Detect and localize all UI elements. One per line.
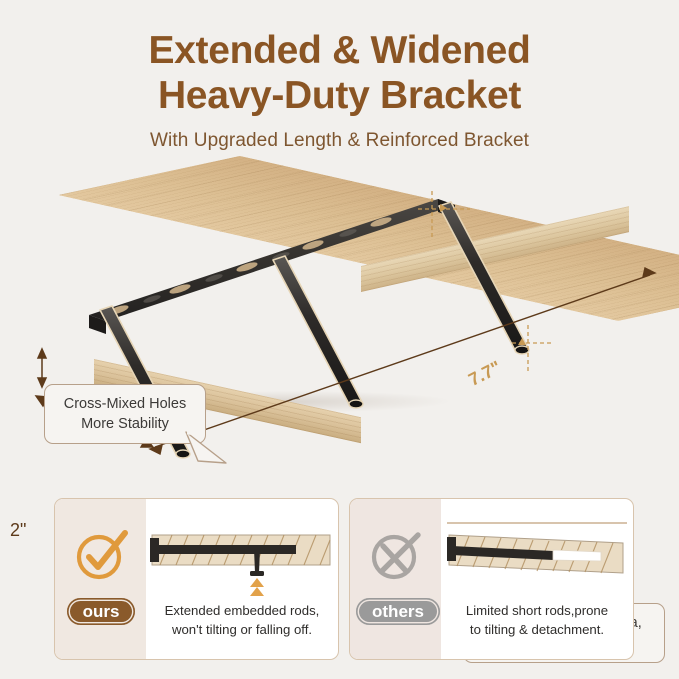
comparison-section: ours xyxy=(0,498,679,670)
check-circle-icon xyxy=(73,527,129,583)
callout-cross-mixed-holes: Cross-Mixed Holes More Stability xyxy=(44,384,206,444)
caption-line-1: Limited short rods,prone xyxy=(441,601,633,620)
x-circle-icon xyxy=(368,527,424,583)
length-dimension-arrow xyxy=(150,268,655,454)
load-arrow-up xyxy=(250,578,264,596)
diagram-ours-cross-section xyxy=(146,505,338,601)
comparison-panel-others: others xyxy=(349,498,634,660)
empty-cavity xyxy=(553,550,601,561)
support-rod-middle xyxy=(273,256,363,408)
caption-line-1: Extended embedded rods, xyxy=(146,601,338,620)
page-subtitle: With Upgraded Length & Reinforced Bracke… xyxy=(0,130,679,152)
diagram-others-cross-section xyxy=(441,505,633,601)
hero-illustration: 2" 12" 48" 7.7" Cross-Mixed Holes More S… xyxy=(0,175,679,490)
bracket-rail xyxy=(89,199,455,334)
callout-line-1: Cross-Mixed Holes xyxy=(57,394,193,414)
callout-line-2: More Stability xyxy=(57,414,193,434)
support-rod-right xyxy=(439,202,529,354)
callout-tail-holes xyxy=(186,432,232,466)
thickness-dimension-arrow xyxy=(38,349,46,387)
caption-line-2: won't tilting or falling off. xyxy=(146,620,338,639)
panel-caption-others: Limited short rods,prone to tilting & de… xyxy=(441,601,633,639)
page-title-line-1: Extended & Widened xyxy=(0,28,679,73)
badge-ours: ours xyxy=(67,598,135,625)
header: Extended & Widened Heavy-Duty Bracket Wi… xyxy=(0,28,679,152)
badge-others: others xyxy=(356,598,440,625)
panel-caption-ours: Extended embedded rods, won't tilting or… xyxy=(146,601,338,639)
comparison-panel-ours: ours xyxy=(54,498,339,660)
product-infographic: Extended & Widened Heavy-Duty Bracket Wi… xyxy=(0,0,679,679)
page-title-line-2: Heavy-Duty Bracket xyxy=(0,73,679,118)
caption-line-2: to tilting & detachment. xyxy=(441,620,633,639)
